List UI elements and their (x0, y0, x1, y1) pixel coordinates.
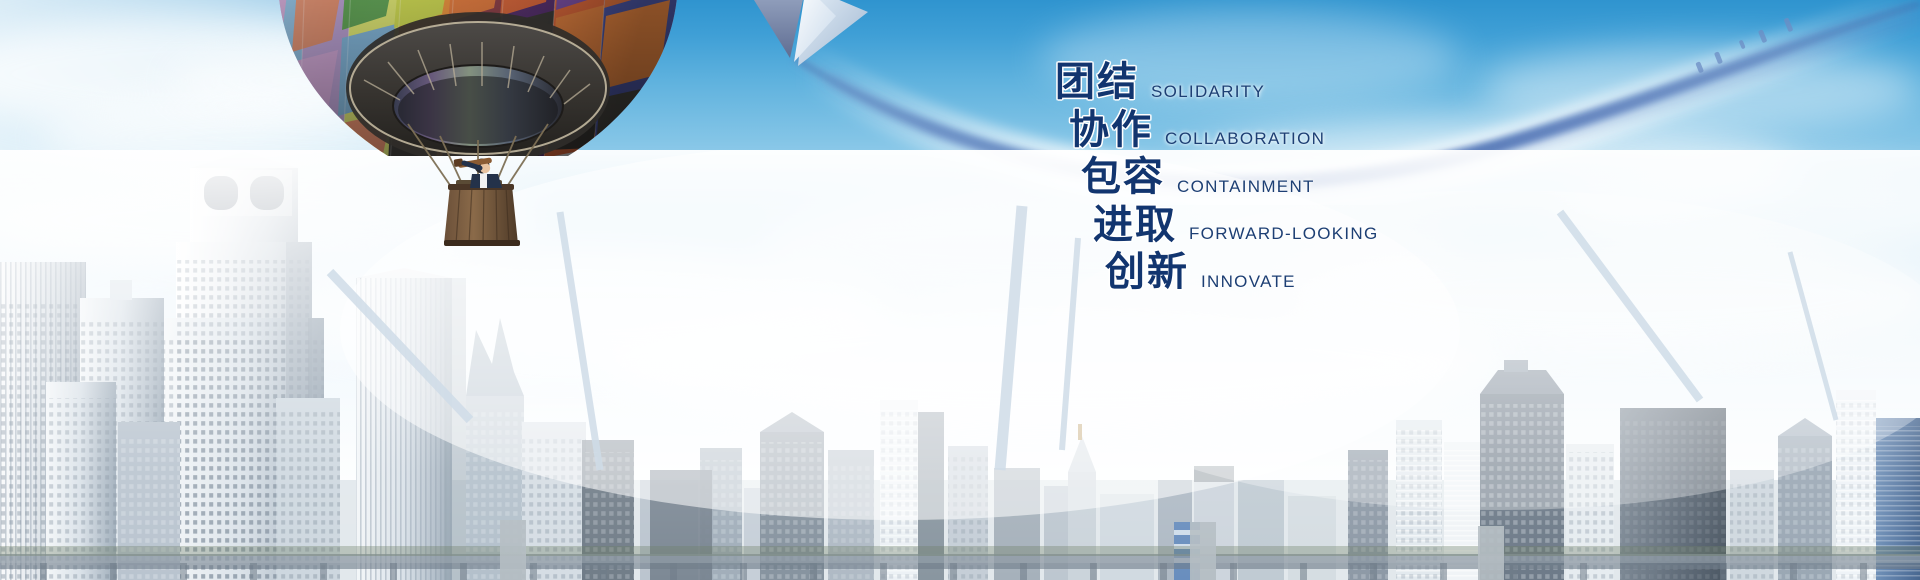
slogan-cn: 进取 (1093, 203, 1177, 249)
slogan-line: 进取 FORWARD-LOOKING (1055, 203, 1575, 249)
slogan-en: COLLABORATION (1165, 129, 1325, 153)
slogan-line: 团结 SOLIDARITY (1055, 60, 1575, 106)
slogan-cn: 协作 (1069, 108, 1153, 154)
slogan-line: 创新 INNOVATE (1055, 250, 1575, 296)
slogan-en: SOLIDARITY (1151, 82, 1265, 106)
slogan-line: 包容 CONTAINMENT (1055, 155, 1575, 201)
slogan-block: 团结 SOLIDARITY 协作 COLLABORATION 包容 CONTAI… (1055, 60, 1575, 298)
slogan-line: 协作 COLLABORATION (1055, 108, 1575, 154)
slogan-en: FORWARD-LOOKING (1189, 224, 1379, 248)
corporate-culture-banner: 团结 SOLIDARITY 协作 COLLABORATION 包容 CONTAI… (0, 0, 1920, 580)
slogan-en: INNOVATE (1201, 272, 1296, 296)
slogan-cn: 包容 (1081, 155, 1165, 201)
slogan-cn: 创新 (1105, 250, 1189, 296)
hot-air-balloon (268, 0, 688, 288)
slogan-cn: 团结 (1055, 60, 1139, 106)
slogan-en: CONTAINMENT (1177, 177, 1315, 201)
